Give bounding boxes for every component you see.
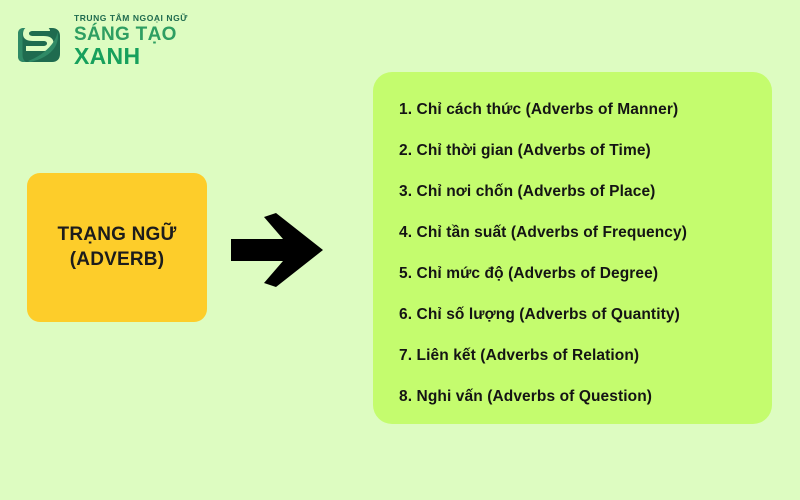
logo-tagline: TRUNG TÂM NGOẠI NGỮ bbox=[74, 14, 188, 23]
list-item: 8. Nghi vấn (Adverbs of Question) bbox=[373, 376, 772, 417]
brand-logo: TRUNG TÂM NGOẠI NGỮ SÁNG TẠO XANH bbox=[12, 10, 252, 72]
list-item: 1. Chỉ cách thức (Adverbs of Manner) bbox=[373, 89, 772, 130]
concept-subtitle: (ADVERB) bbox=[70, 248, 165, 272]
concept-box: TRẠNG NGỮ (ADVERB) bbox=[27, 173, 207, 322]
list-item: 5. Chỉ mức độ (Adverbs of Degree) bbox=[373, 253, 772, 294]
list-item: 3. Chỉ nơi chốn (Adverbs of Place) bbox=[373, 171, 772, 212]
arrow-right-icon bbox=[231, 212, 325, 288]
logo-name-line1: SÁNG TẠO bbox=[74, 25, 188, 44]
s-swoosh-book-icon bbox=[12, 14, 66, 68]
logo-wordmark: TRUNG TÂM NGOẠI NGỮ SÁNG TẠO XANH bbox=[74, 14, 188, 69]
list-item: 2. Chỉ thời gian (Adverbs of Time) bbox=[373, 130, 772, 171]
logo-name-line2: XANH bbox=[74, 45, 188, 68]
list-item: 7. Liên kết (Adverbs of Relation) bbox=[373, 335, 772, 376]
list-item: 6. Chỉ số lượng (Adverbs of Quantity) bbox=[373, 294, 772, 335]
adverb-list-panel: 1. Chỉ cách thức (Adverbs of Manner) 2. … bbox=[373, 72, 772, 424]
list-item: 4. Chỉ tần suất (Adverbs of Frequency) bbox=[373, 212, 772, 253]
concept-title: TRẠNG NGỮ bbox=[58, 223, 177, 247]
